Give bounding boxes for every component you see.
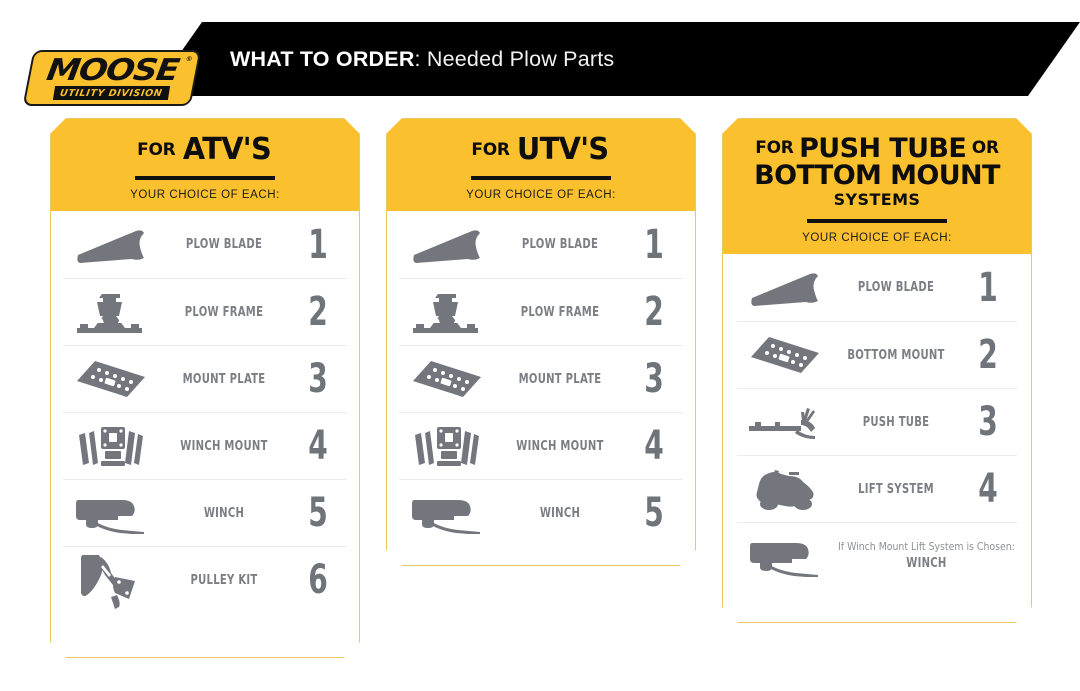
plow-blade-icon bbox=[63, 225, 159, 265]
list-item-label: BOTTOM MOUNT bbox=[842, 348, 950, 363]
card-atv-title: FOR ATV'S bbox=[65, 135, 345, 165]
card-atv-title-main: ATV'S bbox=[183, 135, 271, 165]
list-item[interactable]: PUSH TUBE 3 bbox=[737, 388, 1017, 455]
list-item-label: PLOW BLADE bbox=[504, 237, 616, 252]
winch-icon bbox=[737, 535, 833, 577]
list-item-number: 4 bbox=[295, 426, 340, 466]
winch-mount-icon bbox=[399, 423, 495, 469]
logo-wordmark: MOOSE bbox=[44, 57, 179, 84]
card-push-tube-rows: PLOW BLADE 1 BOTTOM MOUNT 2 PUSH TUBE 3 bbox=[723, 254, 1031, 589]
list-item[interactable]: PULLEY KIT 6 bbox=[63, 546, 347, 613]
card-push-tube-title-suffix: OR bbox=[972, 138, 999, 158]
list-item-number: 2 bbox=[295, 292, 340, 332]
list-item-number: 4 bbox=[965, 469, 1010, 509]
card-push-tube-title-line2-text: BOTTOM MOUNT bbox=[754, 162, 1000, 189]
list-item[interactable]: WINCH 5 bbox=[63, 479, 347, 546]
list-item[interactable]: WINCH 5 bbox=[399, 479, 683, 546]
card-utv-header: FOR UTV'S YOUR CHOICE OF EACH: bbox=[387, 119, 695, 211]
lift-system-icon bbox=[737, 466, 833, 512]
list-item-label: PLOW FRAME bbox=[168, 305, 280, 320]
list-item-number: 1 bbox=[631, 225, 676, 265]
plow-frame-icon bbox=[399, 290, 495, 334]
card-utv-rows: PLOW BLADE 1 PLOW FRAME 2 MOUNT PLATE 3 bbox=[387, 211, 695, 546]
list-item-number: 2 bbox=[631, 292, 676, 332]
list-item-number: 2 bbox=[965, 335, 1010, 375]
list-item-label: MOUNT PLATE bbox=[504, 372, 616, 387]
list-item[interactable]: MOUNT PLATE 3 bbox=[399, 345, 683, 412]
list-item-number: 3 bbox=[965, 402, 1010, 442]
infographic-page: WHAT TO ORDER: Needed Plow Parts MOOSE U… bbox=[0, 0, 1080, 691]
list-item-label: PUSH TUBE bbox=[842, 415, 950, 430]
pulley-kit-icon bbox=[63, 551, 159, 609]
winch-mount-icon bbox=[63, 423, 159, 469]
card-push-tube-header: FOR PUSH TUBE OR BOTTOM MOUNT SYSTEMS YO… bbox=[723, 119, 1031, 254]
list-item[interactable]: PLOW BLADE 1 bbox=[63, 211, 347, 278]
list-item-label: PULLEY KIT bbox=[168, 573, 280, 588]
list-item[interactable]: PLOW BLADE 1 bbox=[399, 211, 683, 278]
list-item-label: MOUNT PLATE bbox=[168, 372, 280, 387]
card-utv-title: FOR UTV'S bbox=[401, 135, 681, 165]
list-item-number: 1 bbox=[965, 268, 1010, 308]
list-item-label: WINCH bbox=[168, 506, 280, 521]
winch-icon bbox=[399, 492, 495, 534]
mount-plate-icon bbox=[63, 357, 159, 401]
list-item-label: LIFT SYSTEM bbox=[842, 482, 950, 497]
logo-subtitle: UTILITY DIVISION bbox=[53, 86, 171, 100]
card-push-tube-choice-label: YOUR CHOICE OF EACH: bbox=[737, 232, 1017, 244]
card-push-tube-title-prefix: FOR bbox=[755, 138, 793, 158]
list-item-label: PLOW BLADE bbox=[168, 237, 280, 252]
list-item[interactable]: PLOW FRAME 2 bbox=[63, 278, 347, 345]
list-item-label: PLOW BLADE bbox=[842, 280, 950, 295]
list-item-label: WINCH MOUNT bbox=[168, 439, 280, 454]
page-title: WHAT TO ORDER: Needed Plow Parts bbox=[230, 22, 614, 96]
list-item-number: 3 bbox=[295, 359, 340, 399]
card-atv-divider bbox=[135, 176, 275, 180]
card-push-tube-title-line1: FOR PUSH TUBE OR bbox=[737, 135, 1017, 162]
list-item-note: If Winch Mount Lift System is Chosen: bbox=[838, 541, 1015, 554]
card-push-tube-bottom-mount: FOR PUSH TUBE OR BOTTOM MOUNT SYSTEMS YO… bbox=[722, 118, 1032, 623]
plow-blade-icon bbox=[399, 225, 495, 265]
push-tube-icon bbox=[737, 402, 833, 442]
list-item[interactable]: PLOW FRAME 2 bbox=[399, 278, 683, 345]
list-item-label: WINCH MOUNT bbox=[504, 439, 616, 454]
list-item-number: 5 bbox=[295, 493, 340, 533]
list-item[interactable]: MOUNT PLATE 3 bbox=[63, 345, 347, 412]
list-item[interactable]: WINCH MOUNT 4 bbox=[399, 412, 683, 479]
list-item[interactable]: LIFT SYSTEM 4 bbox=[737, 455, 1017, 522]
list-item[interactable]: WINCH MOUNT 4 bbox=[63, 412, 347, 479]
plow-frame-icon bbox=[63, 290, 159, 334]
card-atv-choice-label: YOUR CHOICE OF EACH: bbox=[65, 189, 345, 201]
card-push-tube-divider bbox=[807, 219, 947, 223]
card-push-tube-title-main: PUSH TUBE bbox=[799, 135, 966, 162]
mount-plate-icon bbox=[737, 333, 833, 377]
mount-plate-icon bbox=[399, 357, 495, 401]
page-title-light: : Needed Plow Parts bbox=[415, 47, 615, 72]
card-atv-rows: PLOW BLADE 1 PLOW FRAME 2 MOUNT PLATE 3 bbox=[51, 211, 359, 613]
page-header: WHAT TO ORDER: Needed Plow Parts MOOSE U… bbox=[0, 22, 1080, 96]
card-utv-choice-label: YOUR CHOICE OF EACH: bbox=[401, 189, 681, 201]
list-item[interactable]: If Winch Mount Lift System is Chosen: WI… bbox=[737, 522, 1017, 589]
card-utv: FOR UTV'S YOUR CHOICE OF EACH: PLOW BLAD… bbox=[386, 118, 696, 566]
card-utv-title-main: UTV'S bbox=[517, 135, 609, 165]
card-utv-divider bbox=[471, 176, 611, 180]
moose-logo: MOOSE UTILITY DIVISION ® bbox=[23, 50, 202, 106]
card-atv: FOR ATV'S YOUR CHOICE OF EACH: PLOW BLAD… bbox=[50, 118, 360, 658]
list-item-number: 5 bbox=[631, 493, 676, 533]
list-item-number: 5 bbox=[1026, 536, 1071, 576]
list-item-number: 4 bbox=[631, 426, 676, 466]
list-item-number: 6 bbox=[295, 560, 340, 600]
card-push-tube-title-line2: BOTTOM MOUNT bbox=[737, 162, 1017, 189]
list-item-label-text: WINCH bbox=[846, 556, 1007, 571]
list-item[interactable]: BOTTOM MOUNT 2 bbox=[737, 321, 1017, 388]
winch-icon bbox=[63, 492, 159, 534]
list-item-label: PLOW FRAME bbox=[504, 305, 616, 320]
list-item-label: If Winch Mount Lift System is Chosen: WI… bbox=[846, 541, 1007, 571]
card-atv-header: FOR ATV'S YOUR CHOICE OF EACH: bbox=[51, 119, 359, 211]
card-atv-title-prefix: FOR bbox=[137, 140, 175, 160]
list-item-label: WINCH bbox=[504, 506, 616, 521]
list-item[interactable]: PLOW BLADE 1 bbox=[737, 254, 1017, 321]
card-utv-title-prefix: FOR bbox=[471, 140, 509, 160]
plow-blade-icon bbox=[737, 268, 833, 308]
page-title-strong: WHAT TO ORDER bbox=[230, 47, 415, 72]
list-item-number: 3 bbox=[631, 359, 676, 399]
list-item-number: 1 bbox=[295, 225, 340, 265]
card-push-tube-title-line3: SYSTEMS bbox=[737, 192, 1017, 208]
